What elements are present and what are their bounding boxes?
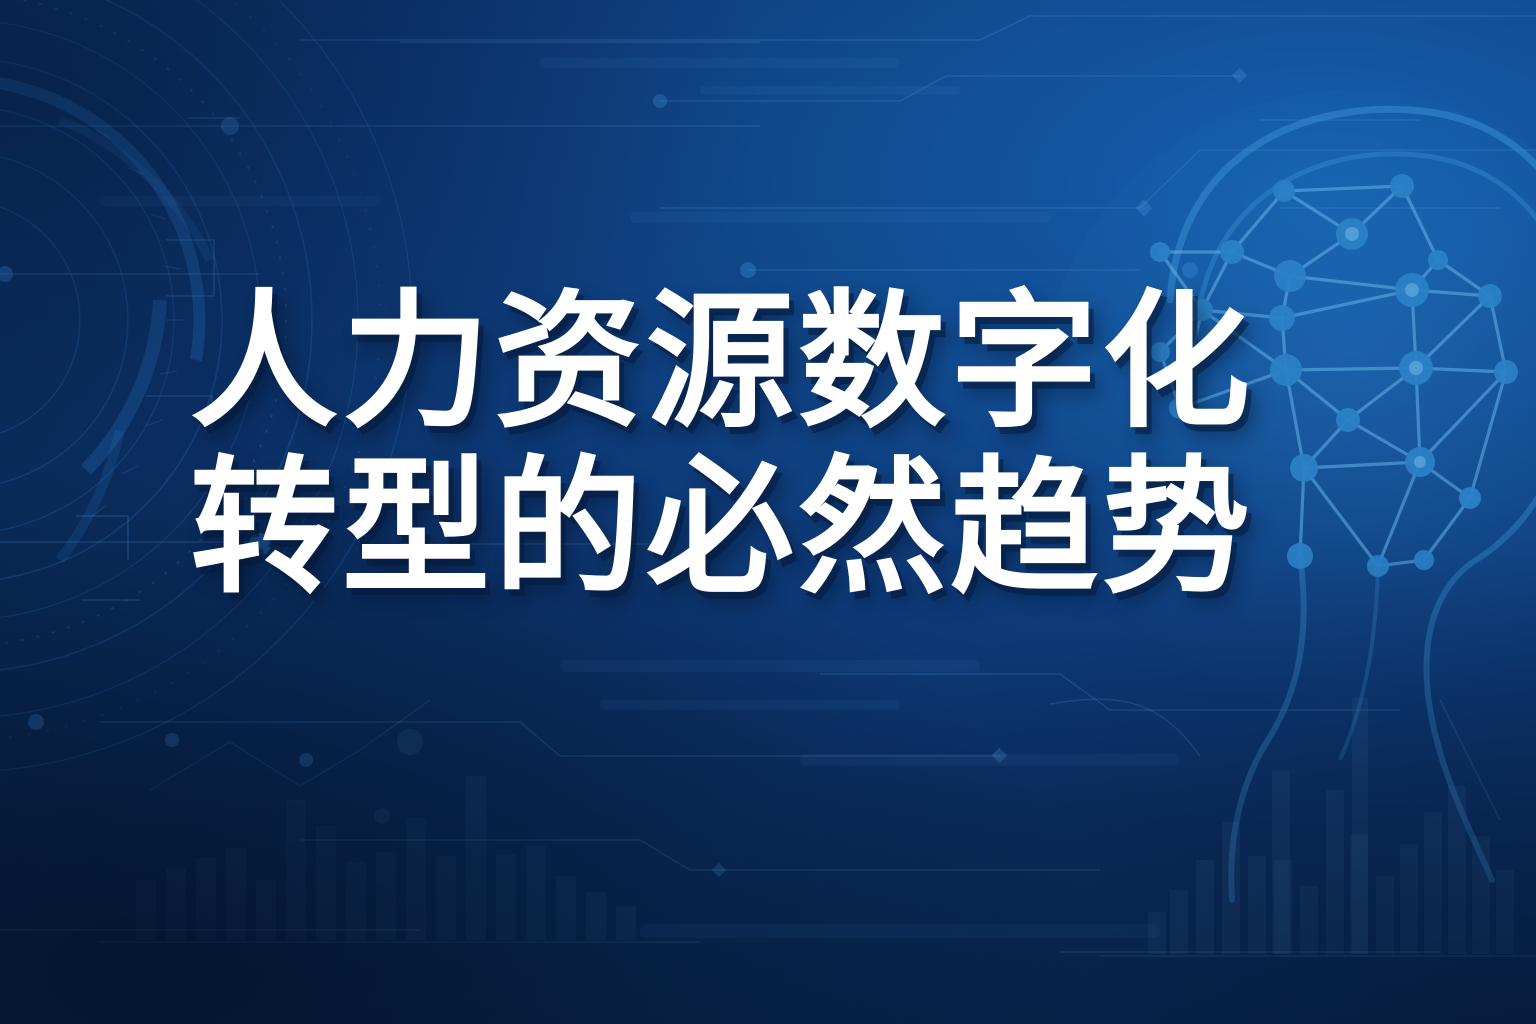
slide-canvas: 人力资源数字化 转型的必然趋势 <box>0 0 1536 1024</box>
page-title: 人力资源数字化 转型的必然趋势 <box>190 286 1310 606</box>
title-line-2: 转型的必然趋势 <box>190 452 1310 606</box>
title-line-1: 人力资源数字化 <box>190 286 1310 440</box>
